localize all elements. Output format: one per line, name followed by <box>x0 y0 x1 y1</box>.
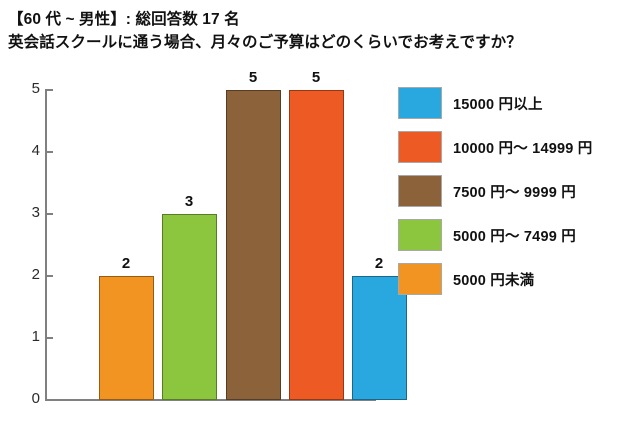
chart-title-block: 【60 代 ~ 男性】: 総回答数 17 名 英会話スクールに通う場合、月々のご… <box>8 8 608 54</box>
chart-subtitle-line: 【60 代 ~ 男性】: 総回答数 17 名 <box>8 8 608 31</box>
legend-item-label: 10000 円～ 14999 円 <box>453 137 592 158</box>
legend-item[interactable]: 10000 円～ 14999 円 <box>398 129 616 167</box>
legend-item[interactable]: 5000 円～ 7499 円 <box>398 217 616 255</box>
legend-color-swatch <box>398 131 442 163</box>
bar-value-label: 5 <box>226 70 281 86</box>
legend-item[interactable]: 7500 円～ 9999 円 <box>398 173 616 211</box>
bar-value-label: 5 <box>289 70 344 86</box>
bar <box>99 276 154 400</box>
legend-item-label: 15000 円以上 <box>453 93 543 114</box>
bar-series: 23552 <box>0 60 380 401</box>
chart-page: 【60 代 ~ 男性】: 総回答数 17 名 英会話スクールに通う場合、月々のご… <box>0 0 622 424</box>
bar <box>226 90 281 400</box>
bar-value-label: 3 <box>162 194 217 210</box>
bar <box>162 214 217 400</box>
legend-color-swatch <box>398 219 442 251</box>
legend-item-label: 7500 円～ 9999 円 <box>453 181 576 202</box>
legend-item-label: 5000 円～ 7499 円 <box>453 225 576 246</box>
bar-value-label: 2 <box>99 256 154 272</box>
chart-question-line: 英会話スクールに通う場合、月々のご予算はどのくらいでお考えですか？ <box>8 31 608 54</box>
legend-item[interactable]: 15000 円以上 <box>398 85 616 123</box>
bar <box>289 90 344 400</box>
legend-color-swatch <box>398 175 442 207</box>
legend-item[interactable]: 5000 円未満 <box>398 261 616 299</box>
legend-color-swatch <box>398 87 442 119</box>
legend-color-swatch <box>398 263 442 295</box>
plot-area: 012345 23552 <box>0 60 380 420</box>
chart-legend: 15000 円以上10000 円～ 14999 円7500 円～ 9999 円5… <box>398 85 616 305</box>
legend-item-label: 5000 円未満 <box>453 269 534 290</box>
